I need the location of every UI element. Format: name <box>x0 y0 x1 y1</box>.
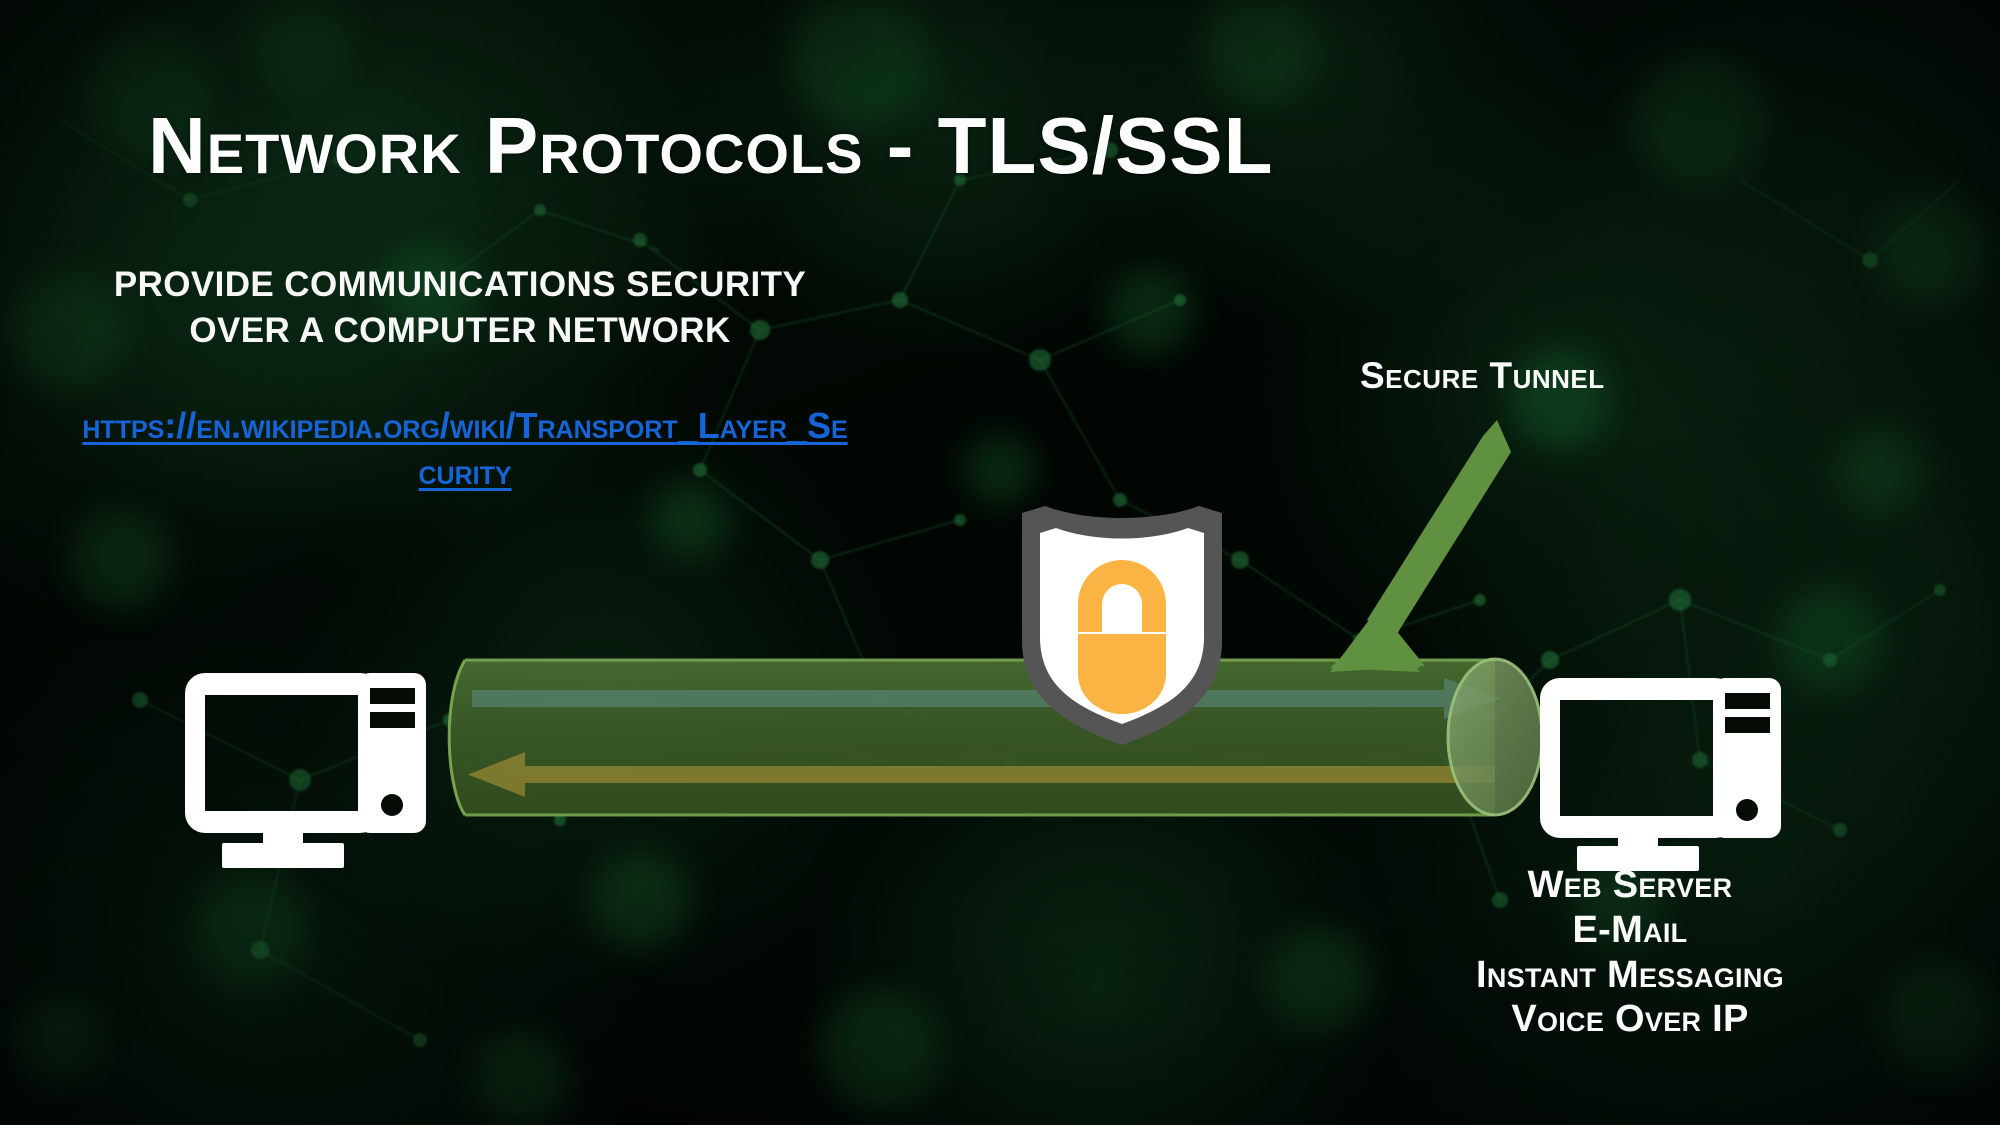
page-title: Network Protocols - TLS/SSL <box>148 104 1708 188</box>
padlock-icon <box>1078 560 1166 714</box>
wikipedia-link[interactable]: https://en.wikipedia.org/wiki/Transport_… <box>80 403 850 495</box>
services-list: Web Server E-Mail Instant Messaging Voic… <box>1380 863 1880 1042</box>
secure-tunnel-label: Secure Tunnel <box>1360 355 1605 397</box>
list-item: Voice Over IP <box>1380 997 1880 1042</box>
slide-canvas: Network Protocols - TLS/SSL Provide comm… <box>0 0 2000 1125</box>
subtitle: Provide communications security over a c… <box>110 262 810 354</box>
list-item: Instant Messaging <box>1380 953 1880 998</box>
list-item: Web Server <box>1380 863 1880 908</box>
subtitle-line-2: over a computer network <box>110 308 810 354</box>
list-item: E-Mail <box>1380 908 1880 953</box>
subtitle-line-1: Provide communications security <box>110 262 810 308</box>
